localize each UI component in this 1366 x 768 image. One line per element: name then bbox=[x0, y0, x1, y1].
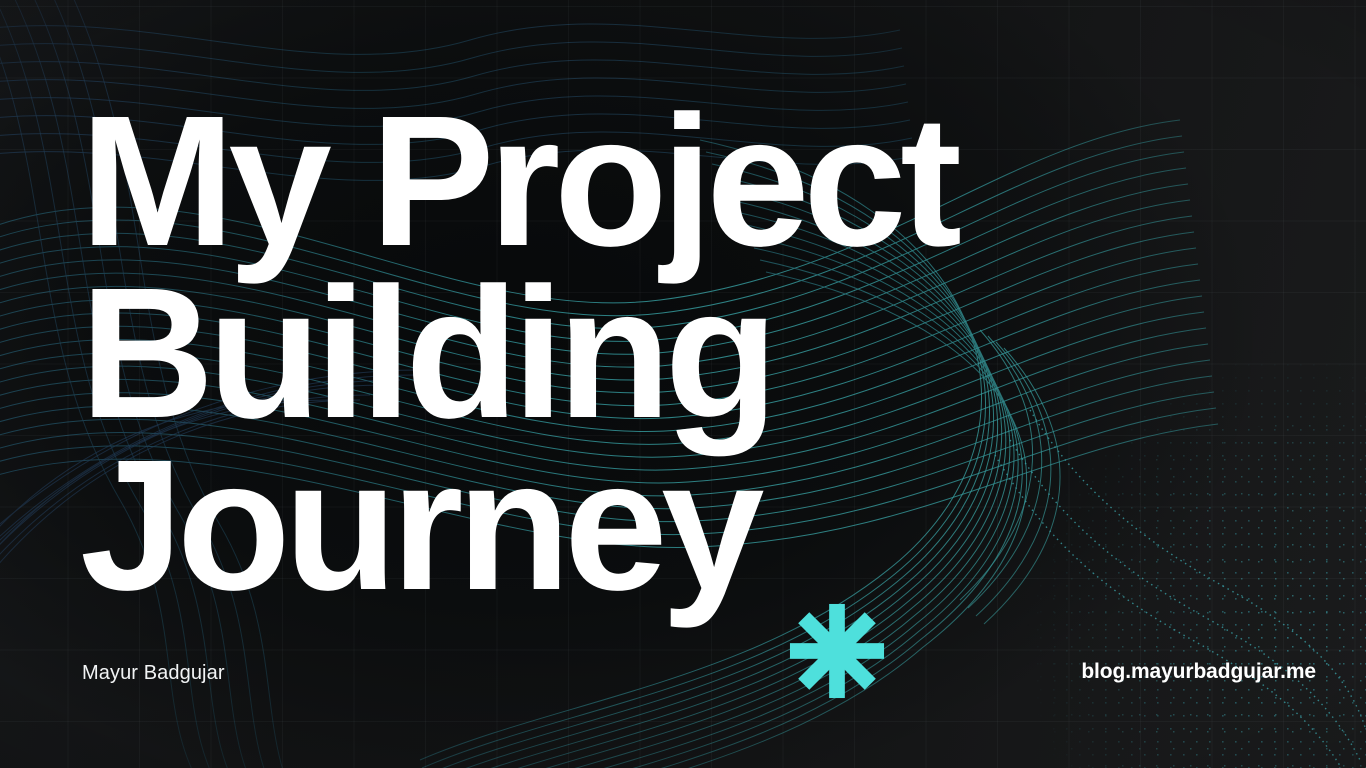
page-title: My Project Building Journey bbox=[80, 96, 1020, 612]
asterisk-icon bbox=[788, 602, 886, 700]
blog-cover-banner: My Project Building Journey Mayur Badguj… bbox=[0, 0, 1366, 768]
site-url-label: blog.mayurbadgujar.me bbox=[1081, 660, 1316, 684]
author-name: Mayur Badgujar bbox=[82, 662, 225, 685]
